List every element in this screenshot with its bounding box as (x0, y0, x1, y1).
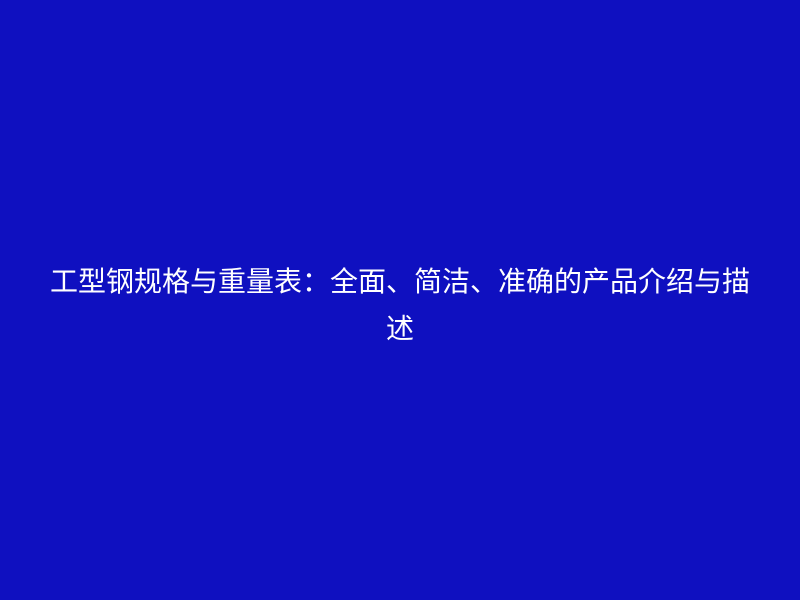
title-block: 工型钢规格与重量表：全面、简洁、准确的产品介绍与描述 (50, 258, 750, 352)
title-slide: 工型钢规格与重量表：全面、简洁、准确的产品介绍与描述 (0, 0, 800, 600)
page-title: 工型钢规格与重量表：全面、简洁、准确的产品介绍与描述 (50, 258, 750, 352)
